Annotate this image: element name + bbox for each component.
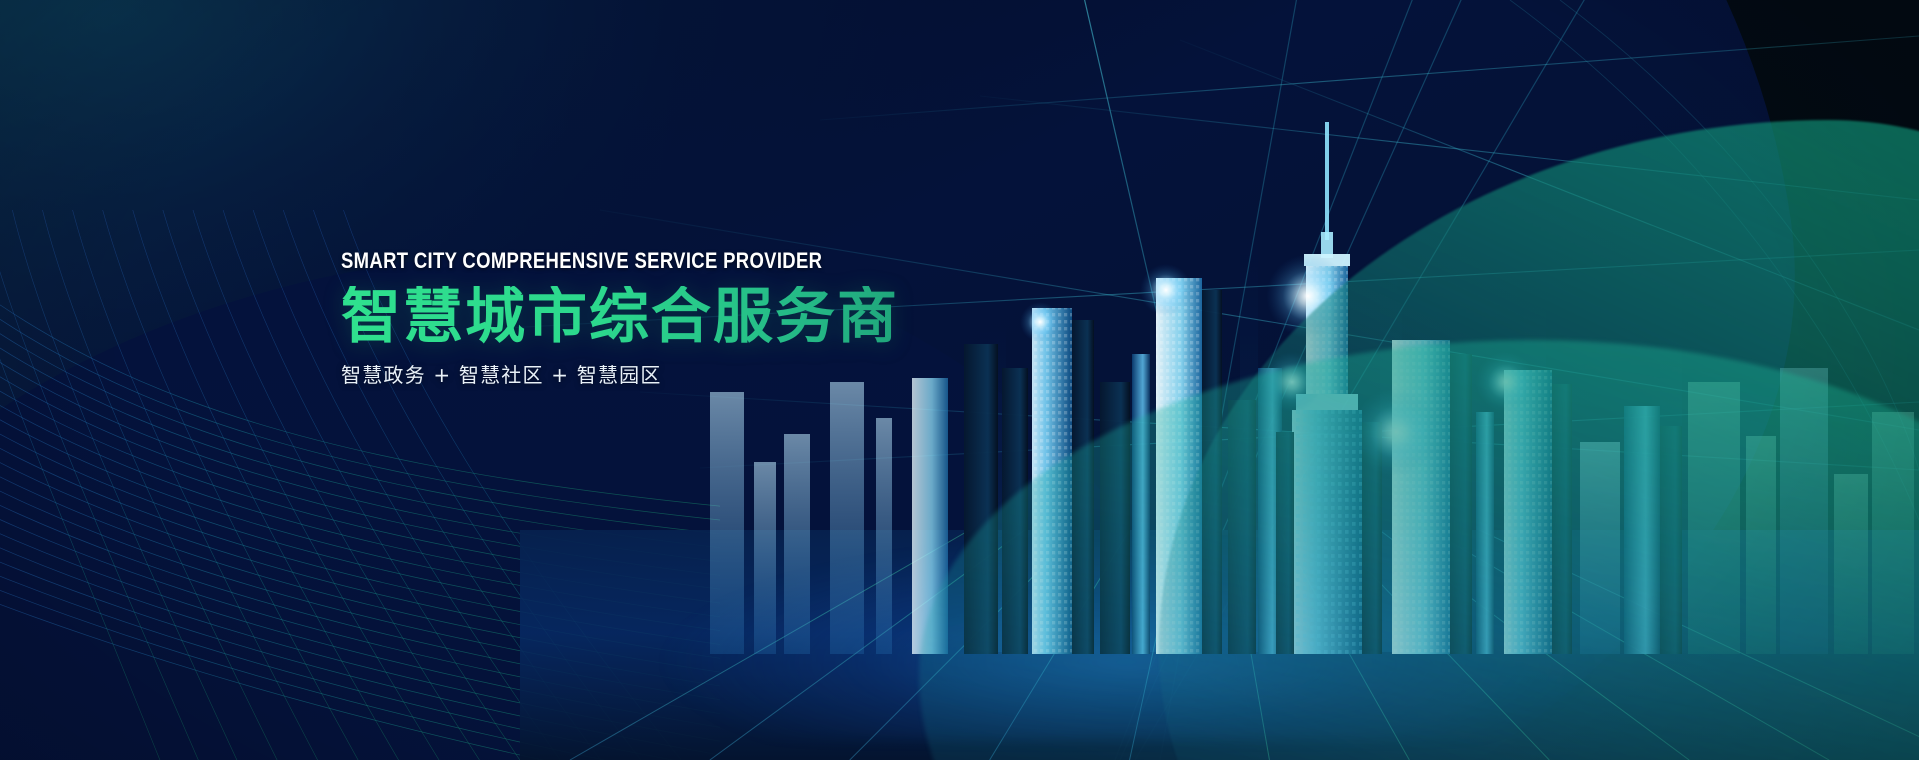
hero-eyebrow: SMART CITY COMPREHENSIVE SERVICE PROVIDE… xyxy=(341,250,1097,272)
hero-subline: 智慧政务 + 智慧社区 + 智慧园区 xyxy=(341,365,1241,385)
hero-copy: SMART CITY COMPREHENSIVE SERVICE PROVIDE… xyxy=(341,250,1241,385)
hero-headline: 智慧城市综合服务商 xyxy=(341,286,1241,349)
hero-banner: SMART CITY COMPREHENSIVE SERVICE PROVIDE… xyxy=(0,0,1919,760)
